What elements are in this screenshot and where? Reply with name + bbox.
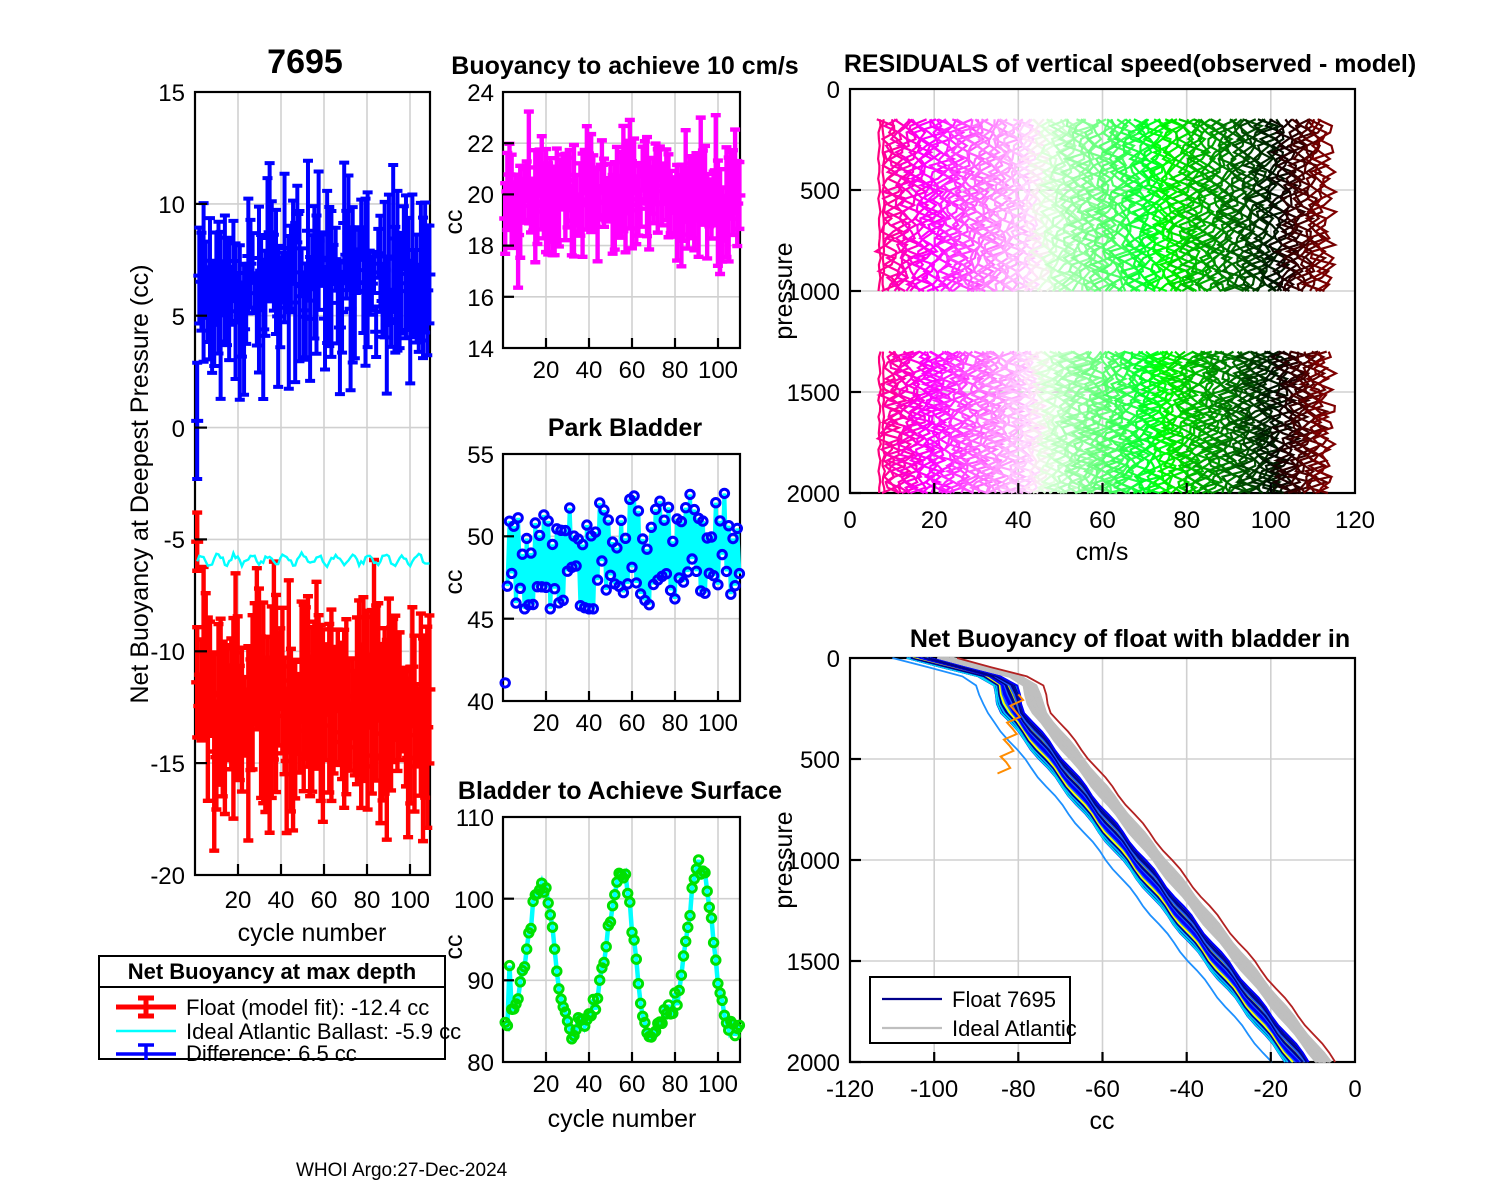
svg-text:60: 60 <box>619 1071 646 1098</box>
bladder-in-legend: Float 7695 Ideal Atlantic <box>870 977 1077 1043</box>
svg-text:14: 14 <box>467 336 494 363</box>
svg-text:80: 80 <box>354 887 381 914</box>
svg-text:55: 55 <box>467 442 494 469</box>
svg-text:500: 500 <box>800 747 840 774</box>
svg-text:1500: 1500 <box>787 949 840 976</box>
panel-buoyancy-10cms-title: Buoyancy to achieve 10 cm/s <box>451 52 798 80</box>
park-bladder-ylabel: cc <box>440 570 468 595</box>
panel-net-buoyancy-title: 7695 <box>267 43 343 81</box>
park-bladder-xticks: 20 40 60 80 100 <box>533 691 738 737</box>
panel-net-buoyancy-bladder-in: Net Buoyancy of float with bladder in Fl… <box>760 620 1410 1140</box>
svg-text:20: 20 <box>467 182 494 209</box>
svg-text:60: 60 <box>311 887 338 914</box>
svg-text:40: 40 <box>1005 507 1032 534</box>
svg-text:-20: -20 <box>150 863 185 890</box>
panel-bladder-in-title: Net Buoyancy of float with bladder in <box>910 625 1350 653</box>
svg-text:50: 50 <box>467 524 494 551</box>
svg-text:100: 100 <box>1251 507 1291 534</box>
bladder-in-xticks: -120 -100 -80 -60 -40 -20 0 <box>826 1052 1362 1103</box>
legend-item-difference[interactable]: Difference: 6.5 cc <box>116 1041 357 1066</box>
svg-text:-100: -100 <box>910 1076 958 1103</box>
panel-park-bladder: Park Bladder 55 50 45 40 20 40 60 80 100 <box>430 412 770 737</box>
svg-text:2000: 2000 <box>787 1050 840 1077</box>
bladder-in-xlabel: cc <box>1090 1107 1115 1135</box>
svg-text:100: 100 <box>698 710 738 737</box>
svg-text:0: 0 <box>827 646 840 673</box>
svg-text:100: 100 <box>454 887 494 914</box>
svg-text:18: 18 <box>467 233 494 260</box>
bladder-surface-axes <box>503 817 740 1062</box>
svg-text:20: 20 <box>533 357 560 384</box>
residuals-data <box>876 119 1336 493</box>
svg-text:40: 40 <box>576 357 603 384</box>
panel-bladder-surface: Bladder to Achieve Surface 110 100 90 80… <box>430 775 770 1135</box>
svg-text:20: 20 <box>225 887 252 914</box>
svg-text:110: 110 <box>456 805 494 832</box>
park-bladder-markers <box>501 489 744 687</box>
buoyancy-10cms-xticks: 20 40 60 80 100 <box>533 338 738 384</box>
svg-text:90: 90 <box>467 968 494 995</box>
panel-residuals: RESIDUALS of vertical speed(observed - m… <box>760 45 1410 555</box>
residuals-xlabel: cm/s <box>1076 538 1129 566</box>
svg-text:-60: -60 <box>1085 1076 1120 1103</box>
svg-text:16: 16 <box>467 285 494 312</box>
svg-text:40: 40 <box>467 689 494 716</box>
legend-label-difference: Difference: 6.5 cc <box>186 1041 357 1066</box>
svg-text:0: 0 <box>827 77 840 104</box>
net-buoyancy-ylabel: Net Buoyancy at Deepest Pressure (cc) <box>126 264 154 703</box>
bladder-in-ylabel: pressure <box>770 811 798 908</box>
svg-text:100: 100 <box>698 357 738 384</box>
svg-text:-20: -20 <box>1253 1076 1288 1103</box>
svg-text:0: 0 <box>172 416 185 443</box>
svg-text:0: 0 <box>843 507 856 534</box>
panel-buoyancy-10cms: Buoyancy to achieve 10 cm/s 24 22 20 18 … <box>430 50 770 380</box>
panel-net-buoyancy: 7695 15 10 5 0 <box>0 0 460 950</box>
bladder-in-legend-ideal: Ideal Atlantic <box>952 1016 1077 1041</box>
net-buoyancy-data-blue <box>191 161 435 479</box>
svg-text:80: 80 <box>662 357 689 384</box>
bladder-surface-ylabel: cc <box>440 935 468 960</box>
svg-text:40: 40 <box>576 710 603 737</box>
buoyancy-10cms-data <box>499 112 745 288</box>
bladder-surface-xticks: 20 40 60 80 100 <box>533 1052 738 1098</box>
svg-text:80: 80 <box>662 710 689 737</box>
svg-text:80: 80 <box>467 1050 494 1077</box>
svg-text:2000: 2000 <box>787 481 840 508</box>
panel-park-bladder-title: Park Bladder <box>548 414 703 442</box>
svg-text:500: 500 <box>800 178 840 205</box>
svg-text:5: 5 <box>172 304 185 331</box>
svg-text:60: 60 <box>619 710 646 737</box>
panel-residuals-title: RESIDUALS of vertical speed(observed - m… <box>844 50 1416 78</box>
svg-text:-40: -40 <box>1169 1076 1204 1103</box>
residuals-ylabel: pressure <box>770 242 798 339</box>
net-buoyancy-xlabel: cycle number <box>238 919 387 947</box>
buoyancy-10cms-ylabel: cc <box>440 210 468 235</box>
svg-text:80: 80 <box>662 1071 689 1098</box>
svg-text:60: 60 <box>619 357 646 384</box>
svg-text:40: 40 <box>576 1071 603 1098</box>
svg-text:10: 10 <box>158 192 185 219</box>
legend-title: Net Buoyancy at max depth <box>128 959 417 984</box>
svg-text:24: 24 <box>467 80 494 107</box>
bladder-surface-xlabel: cycle number <box>548 1105 697 1133</box>
svg-text:0: 0 <box>1348 1076 1361 1103</box>
legend-label-float: Float (model fit): -12.4 cc <box>186 995 429 1020</box>
panel-bladder-surface-title: Bladder to Achieve Surface <box>458 777 782 805</box>
net-buoyancy-legend: Net Buoyancy at max depth Float (model f… <box>98 955 446 1060</box>
svg-text:-120: -120 <box>826 1076 874 1103</box>
svg-text:20: 20 <box>533 1071 560 1098</box>
svg-text:100: 100 <box>698 1071 738 1098</box>
net-buoyancy-xticks: 20 40 60 80 100 <box>225 864 430 914</box>
net-buoyancy-ideal-line <box>197 553 429 567</box>
svg-text:20: 20 <box>921 507 948 534</box>
svg-text:120: 120 <box>1335 507 1375 534</box>
svg-text:20: 20 <box>533 710 560 737</box>
svg-text:60: 60 <box>1089 507 1116 534</box>
net-buoyancy-yticks: 15 10 5 0 -5 -10 -15 -20 <box>150 80 207 890</box>
svg-text:40: 40 <box>268 887 295 914</box>
svg-text:-10: -10 <box>150 639 185 666</box>
svg-text:15: 15 <box>158 80 185 107</box>
svg-text:45: 45 <box>467 607 494 634</box>
bladder-in-legend-float: Float 7695 <box>952 987 1056 1012</box>
svg-text:1500: 1500 <box>787 380 840 407</box>
svg-text:-15: -15 <box>150 751 185 778</box>
svg-text:-80: -80 <box>1001 1076 1036 1103</box>
figure-footer: WHOI Argo:27-Dec-2024 <box>296 1160 507 1182</box>
svg-text:-5: -5 <box>164 527 185 554</box>
svg-text:22: 22 <box>467 131 494 158</box>
svg-text:80: 80 <box>1173 507 1200 534</box>
svg-text:100: 100 <box>390 887 430 914</box>
